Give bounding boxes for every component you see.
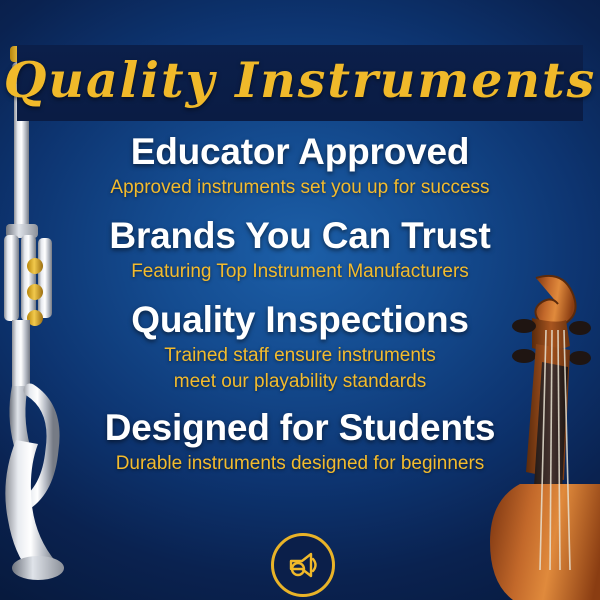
feature-sub-4: Durable instruments designed for beginne… <box>0 452 600 476</box>
feature-heading-3: Quality Inspections <box>0 298 600 342</box>
feature-heading-4: Designed for Students <box>0 406 600 450</box>
horn-icon <box>283 545 323 585</box>
page-title: Quality Instruments <box>0 42 600 118</box>
feature-list: Educator Approved Approved instruments s… <box>0 128 600 482</box>
feature-heading-2: Brands You Can Trust <box>0 214 600 258</box>
feature-block-1: Educator Approved Approved instruments s… <box>0 130 600 200</box>
feature-sub-3-line2: meet our playability standards <box>0 370 600 394</box>
horn-logo-badge <box>271 533 335 597</box>
feature-sub-1: Approved instruments set you up for succ… <box>0 176 600 200</box>
feature-sub-2: Featuring Top Instrument Manufacturers <box>0 260 600 284</box>
feature-block-2: Brands You Can Trust Featuring Top Instr… <box>0 214 600 284</box>
poster: Quality Instruments Educator Approved Ap… <box>0 0 600 600</box>
feature-heading-1: Educator Approved <box>0 130 600 174</box>
feature-sub-3-line1: Trained staff ensure instruments <box>0 344 600 368</box>
feature-block-4: Designed for Students Durable instrument… <box>0 406 600 476</box>
feature-block-3: Quality Inspections Trained staff ensure… <box>0 298 600 394</box>
